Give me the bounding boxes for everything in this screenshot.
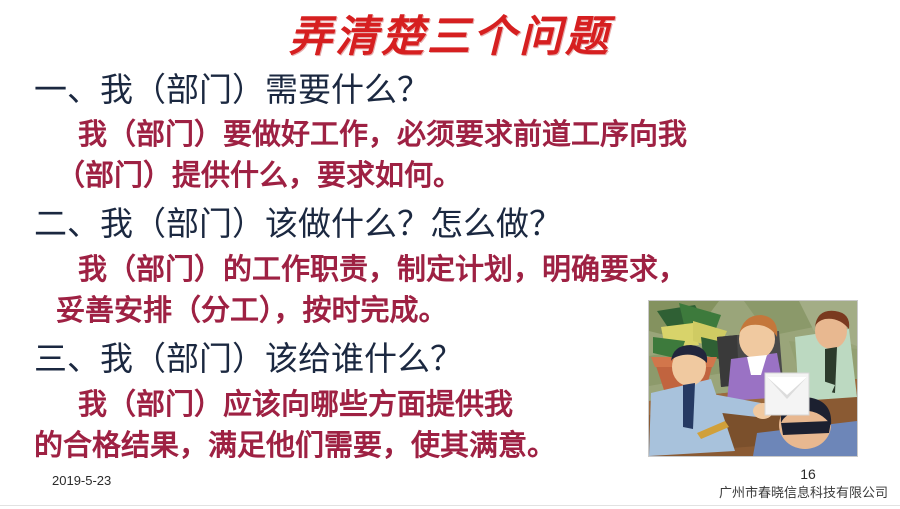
slide-canvas: 弄清楚三个问题 一、我（部门）需要什么？ 我（部门）要做好工作，必须要求前道工序… — [0, 0, 900, 509]
footer-company-name: 广州市春晓信息科技有限公司 — [719, 485, 888, 501]
page-number: 16 — [0, 466, 900, 482]
answer-line: 我（部门）的工作职责，制定计划，明确要求， — [34, 249, 874, 290]
document-icon — [765, 373, 809, 415]
page-title: 弄清楚三个问题 — [0, 12, 900, 62]
business-meeting-image — [648, 300, 858, 457]
answer-line: 我（部门）要做好工作，必须要求前道工序向我 — [34, 114, 874, 155]
question-heading-2: 二、我（部门）该做什么？怎么做？ — [34, 202, 874, 246]
page-number-value: 16 — [800, 466, 816, 482]
answer-line: （部门）提供什么，要求如何。 — [34, 155, 874, 196]
business-meeting-clipart — [649, 301, 857, 456]
footer-divider — [0, 505, 900, 506]
question-answer-1: 我（部门）要做好工作，必须要求前道工序向我 （部门）提供什么，要求如何。 — [34, 114, 874, 196]
question-heading-1: 一、我（部门）需要什么？ — [34, 68, 874, 112]
